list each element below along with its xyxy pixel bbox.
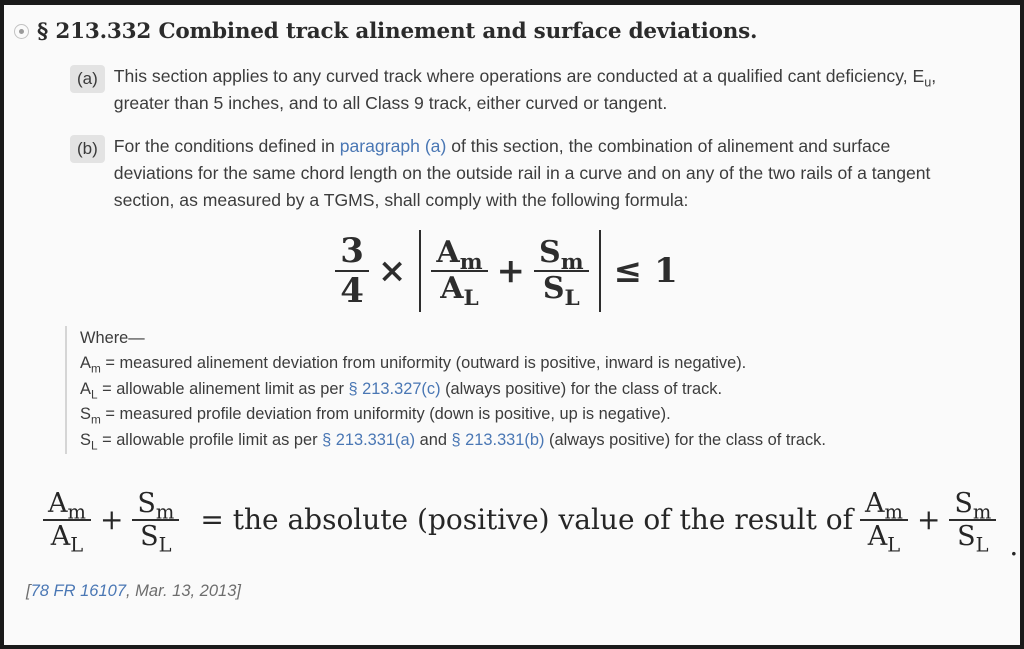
definition-SL-link-join: and [415,431,451,449]
paragraph-a: (a) This section applies to any curved t… [12,63,1004,116]
multiplication-symbol: × [372,251,413,291]
definition-Am-equals: = [105,354,115,372]
formula-combined-deviation: 3 4 × Am AL + Sm SL ≤ [12,230,1004,312]
source-citation: [78 FR 16107, Mar. 13, 2013] [26,582,1004,601]
definition-AL: AL = allowable alinement limit as per § … [80,377,1004,403]
abs-definition-alinement-ratio: Am AL [43,488,91,552]
abs-definition-plus-left: + [94,503,129,536]
citation-rest: , Mar. 13, 2013] [126,582,241,600]
absolute-value-definition: Am AL + Sm SL = the absolute (positive) … [26,472,1004,568]
abs-definition-plus-right: + [911,503,946,536]
paragraph-marker-a: (a) [70,65,105,93]
where-definitions-block: Where— Am = measured alinement deviation… [65,326,1004,454]
section-content-scroll[interactable]: § 213.332 Combined track alinement and s… [4,5,1020,645]
definition-SL-text-before: allowable profile limit as per [112,431,322,449]
formula-main-row: 3 4 × Am AL + Sm SL ≤ [332,230,684,312]
definition-AL-equals: = [102,380,112,398]
definition-Sm-text: measured profile deviation from uniformi… [115,405,671,423]
definition-AL-text-before: allowable alinement limit as per [112,380,349,398]
abs-bar-right [599,230,601,312]
definition-Am: Am = measured alinement deviation from u… [80,351,1004,377]
definition-Am-text: measured alinement deviation from unifor… [115,354,746,372]
paragraph-a-text-before: This section applies to any curved track… [114,66,924,86]
definition-Sm-equals: = [105,405,115,423]
right-hand-side: 1 [648,251,684,291]
paragraph-b-text-before: For the conditions defined in [114,136,340,156]
link-213-327-c[interactable]: § 213.327(c) [349,380,441,398]
coefficient-fraction: 3 4 [335,232,369,310]
definition-Sm: Sm = measured profile deviation from uni… [80,402,1004,428]
section-heading: § 213.332 Combined track alinement and s… [12,17,1004,46]
link-78-fr-16107[interactable]: 78 FR 16107 [31,582,126,600]
surface-limit: SL [538,272,585,306]
paragraph-b: (b) For the conditions defined in paragr… [12,133,1004,213]
anchor-target-icon[interactable] [14,24,29,39]
document-frame: § 213.332 Combined track alinement and s… [0,0,1024,649]
definition-SL: SL = allowable profile limit as per § 21… [80,428,1004,454]
abs-definition-prose: = the absolute (positive) value of the r… [196,503,857,536]
abs-definition-alinement-ratio-right: Am AL [860,488,908,552]
definition-SL-equals: = [102,431,112,449]
alinement-limit: AL [435,272,483,306]
abs-definition-surface-ratio-right: Sm SL [949,488,996,552]
where-label: Where— [80,326,1004,352]
alinement-ratio: Am AL [431,236,487,306]
page-title: § 213.332 Combined track alinement and s… [37,17,757,46]
abs-bar-left [419,230,421,312]
relation-symbol: ≤ [608,251,649,291]
definition-SL-text-after: (always positive) for the class of track… [544,431,825,449]
coefficient-denominator: 4 [335,272,369,310]
abs-definition-surface-ratio: Sm SL [132,488,179,552]
abs-definition-period: . [999,529,1018,568]
link-paragraph-a[interactable]: paragraph (a) [340,136,447,156]
definition-AL-text-after: (always positive) for the class of track… [441,380,722,398]
surface-ratio: Sm SL [534,236,589,306]
plus-symbol: + [491,251,532,291]
paragraph-a-text: This section applies to any curved track… [114,63,964,116]
paragraph-b-text: For the conditions defined in paragraph … [114,133,964,213]
surface-measured: Sm [534,236,589,270]
coefficient-numerator: 3 [335,232,369,270]
link-213-331-b[interactable]: § 213.331(b) [452,431,545,449]
link-213-331-a[interactable]: § 213.331(a) [322,431,415,449]
paragraph-marker-b: (b) [70,135,105,163]
alinement-measured: Am [431,236,487,270]
